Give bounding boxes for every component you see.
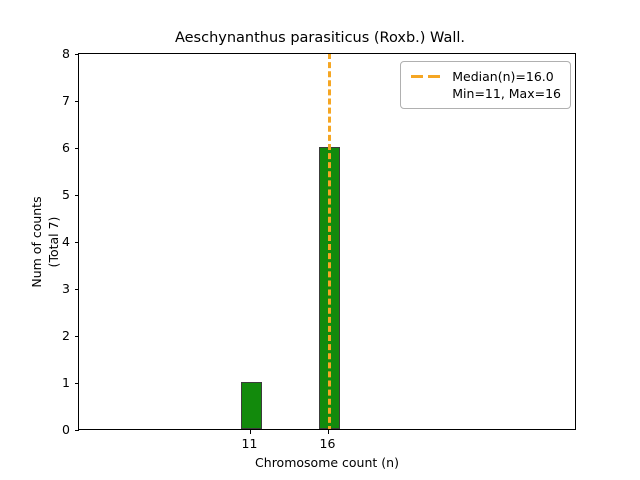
legend-dashed-line-icon <box>410 68 444 85</box>
y-tick-mark-0 <box>75 430 79 431</box>
legend: Median(n)=16.0 Min=11, Max=16 <box>400 61 571 109</box>
y-axis-title: Num of counts(Total 7) <box>28 52 62 432</box>
x-tick-mark-11 <box>250 430 251 434</box>
x-tick-label-11: 11 <box>242 437 258 450</box>
plot-inner-clip <box>79 54 575 429</box>
x-tick-label-16: 16 <box>320 437 336 450</box>
bar-11[interactable] <box>241 382 262 430</box>
chart-title: Aeschynanthus parasiticus (Roxb.) Wall. <box>0 30 640 46</box>
plot-area: Median(n)=16.0 Min=11, Max=16 <box>78 53 576 430</box>
x-axis-title: Chromosome count (n) <box>78 455 576 470</box>
x-tick-mark-16 <box>328 430 329 434</box>
legend-label-median: Median(n)=16.0 <box>452 68 561 85</box>
legend-text-block: Median(n)=16.0 Min=11, Max=16 <box>452 68 561 102</box>
legend-entry-median: Median(n)=16.0 Min=11, Max=16 <box>410 68 561 102</box>
figure-canvas: Aeschynanthus parasiticus (Roxb.) Wall. … <box>0 0 640 480</box>
y-axis-title-line2: (Total 7) <box>46 217 61 268</box>
y-axis-title-line1: Num of counts <box>29 196 44 287</box>
median-line <box>328 54 331 429</box>
legend-label-minmax: Min=11, Max=16 <box>452 85 561 102</box>
